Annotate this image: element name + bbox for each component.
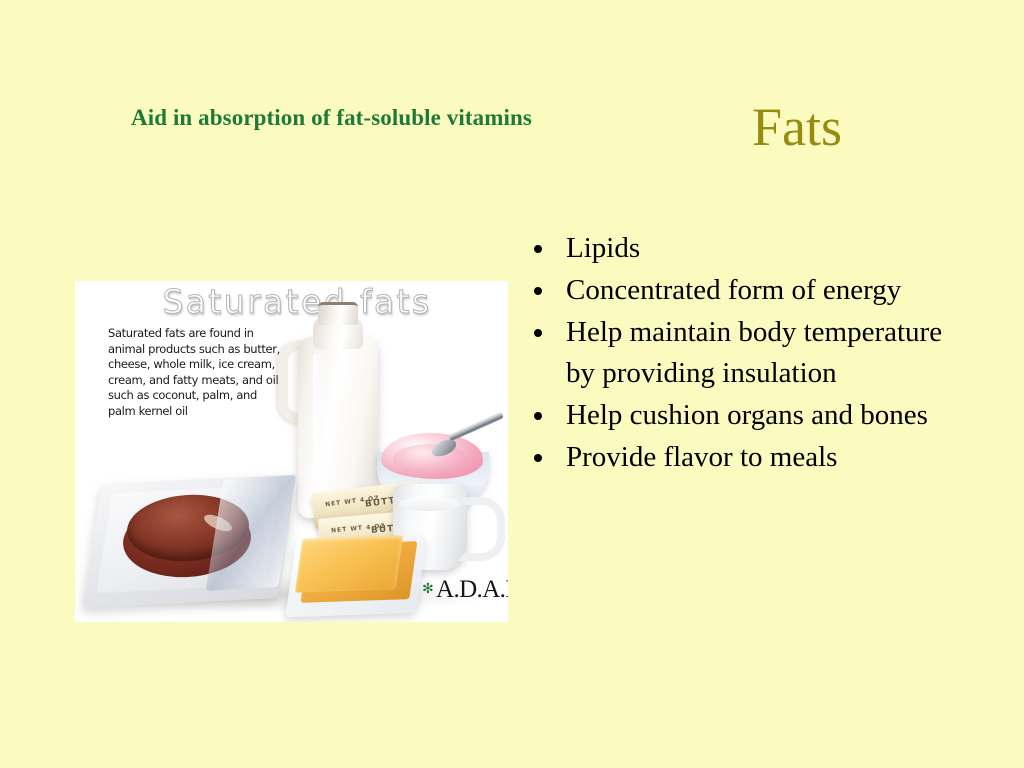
bullet-list: Lipids Concentrated form of energy Help …	[528, 228, 958, 479]
list-item-label: Lipids	[566, 232, 640, 264]
list-item: Provide flavor to meals	[528, 437, 958, 478]
slide-subheading: Aid in absorption of fat-soluble vitamin…	[131, 104, 731, 132]
list-item: Concentrated form of energy	[528, 270, 958, 311]
bullet-dot-icon	[534, 245, 542, 253]
list-item: Help maintain body temperature by provid…	[528, 312, 958, 394]
spoon-handle	[448, 412, 504, 442]
list-item-label: Concentrated form of energy	[566, 274, 901, 306]
page-title: Fats	[752, 98, 842, 156]
adam-logo-text: A.D.A.M.	[436, 577, 508, 602]
food-photo: BUTTER NET WT 4 OZ BUTTER NET WT 4 OZ	[75, 281, 508, 622]
list-item: Lipids	[528, 228, 958, 269]
cream-pitcher-handle	[457, 497, 505, 561]
adam-logo: ✻ A.D.A.M.	[422, 577, 508, 602]
list-item: Help cushion organs and bones	[528, 395, 958, 436]
milk-jug-highlight	[313, 353, 325, 503]
list-item-label: Help maintain body temperature by provid…	[566, 316, 942, 389]
ice-cream-scoop-highlight	[393, 444, 467, 474]
bullet-dot-icon	[534, 329, 542, 337]
milk-jug-cap	[318, 302, 358, 325]
bullet-dot-icon	[534, 454, 542, 462]
bullet-dot-icon	[534, 412, 542, 420]
saturated-fats-illustration: Saturated fats Saturated fats are found …	[75, 281, 508, 622]
list-item-label: Provide flavor to meals	[566, 441, 837, 473]
cream-pitcher-cream	[399, 497, 461, 511]
slide: Aid in absorption of fat-soluble vitamin…	[0, 0, 1024, 768]
cheese-slice-front	[295, 535, 403, 592]
bullet-dot-icon	[534, 287, 542, 295]
leaf-icon: ✻	[422, 583, 435, 596]
list-item-label: Help cushion organs and bones	[566, 399, 928, 431]
